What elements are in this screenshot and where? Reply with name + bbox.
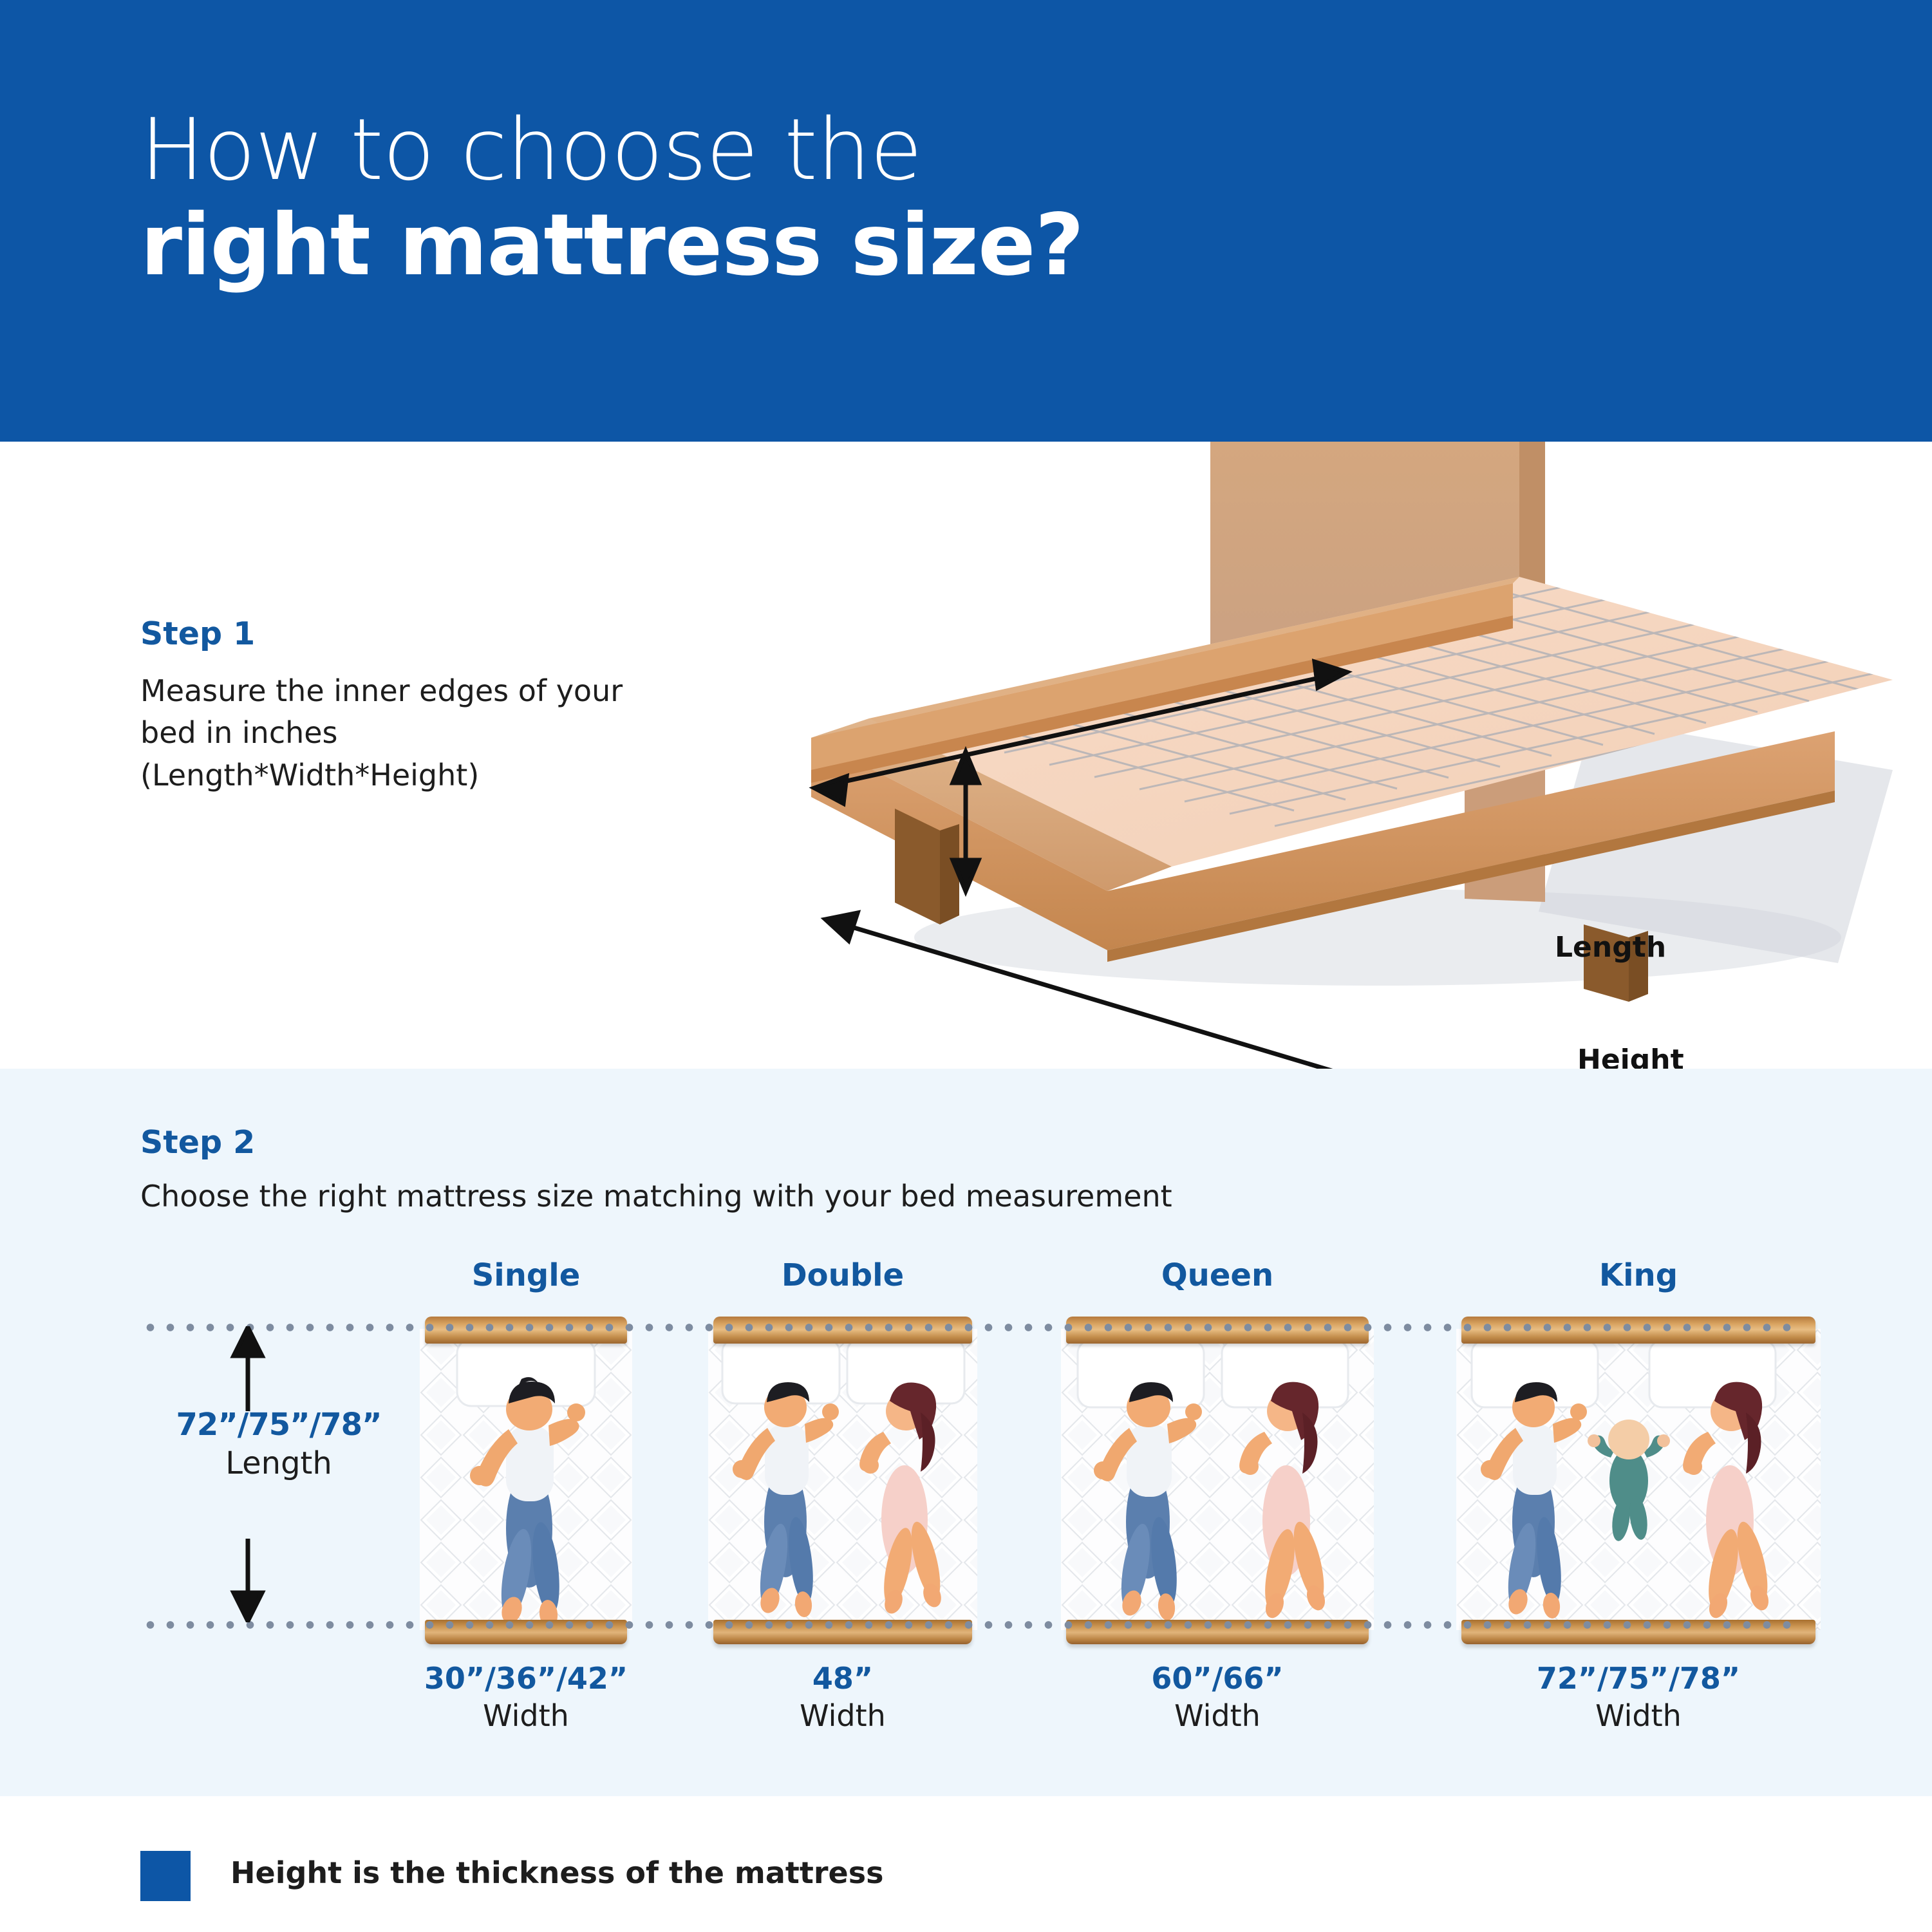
mattress-title-double: Double: [708, 1257, 977, 1293]
step-1-text-block: Step 1 Measure the inner edges of your b…: [140, 615, 642, 796]
width-value-double: 48”: [708, 1661, 977, 1696]
width-value-king: 72”/75”/78”: [1456, 1661, 1821, 1696]
page-title-line-1: How to choose the: [140, 103, 1083, 198]
mattress-surface-single: [420, 1329, 632, 1630]
header-title-block: How to choose the right mattress size?: [140, 103, 1083, 294]
length-axis-label: 72”/75”/78” Length: [140, 1407, 417, 1481]
width-value-single: 30”/36”/42”: [420, 1661, 632, 1696]
mattress-surface-double: [708, 1329, 977, 1630]
mattress-surface-queen: [1061, 1329, 1374, 1630]
quilt-pattern-double: [708, 1329, 977, 1630]
page-title-line-2: right mattress size?: [140, 198, 1083, 294]
width-value-queen: 60”/66”: [1061, 1661, 1374, 1696]
width-word-double: Width: [708, 1698, 977, 1733]
footer-legend: Height is the thickness of the mattress: [0, 1796, 1932, 1932]
width-word-single: Width: [420, 1698, 632, 1733]
legend-label: Height is the thickness of the mattress: [230, 1855, 884, 1890]
length-word: Length: [140, 1445, 417, 1481]
quilt-pattern-queen: [1061, 1329, 1374, 1630]
quilt-pattern-king: [1456, 1329, 1821, 1630]
length-inches: 72”/75”/78”: [140, 1407, 417, 1443]
mattress-surface-king: [1456, 1329, 1821, 1630]
length-guide-top: [140, 1324, 1801, 1331]
mattress-title-king: King: [1456, 1257, 1821, 1293]
length-guide-bottom: [140, 1621, 1801, 1629]
mattress-title-queen: Queen: [1061, 1257, 1374, 1293]
bed-illustration-svg: [682, 358, 1932, 1118]
mattress-title-single: Single: [420, 1257, 632, 1293]
step-1-section: Step 1 Measure the inner edges of your b…: [0, 442, 1932, 1069]
width-word-queen: Width: [1061, 1698, 1374, 1733]
quilt-pattern-single: [420, 1329, 632, 1630]
step-2-section: Step 2 Choose the right mattress size ma…: [0, 1069, 1932, 1796]
header-banner: How to choose the right mattress size?: [0, 0, 1932, 442]
legend-color-swatch: [140, 1851, 191, 1901]
step-1-body: Measure the inner edges of your bed in i…: [140, 670, 642, 796]
step-1-label: Step 1: [140, 615, 642, 652]
bed-diagram: Length Height Width: [682, 358, 1932, 1118]
length-label: Length: [1555, 931, 1666, 964]
width-word-king: Width: [1456, 1698, 1821, 1733]
